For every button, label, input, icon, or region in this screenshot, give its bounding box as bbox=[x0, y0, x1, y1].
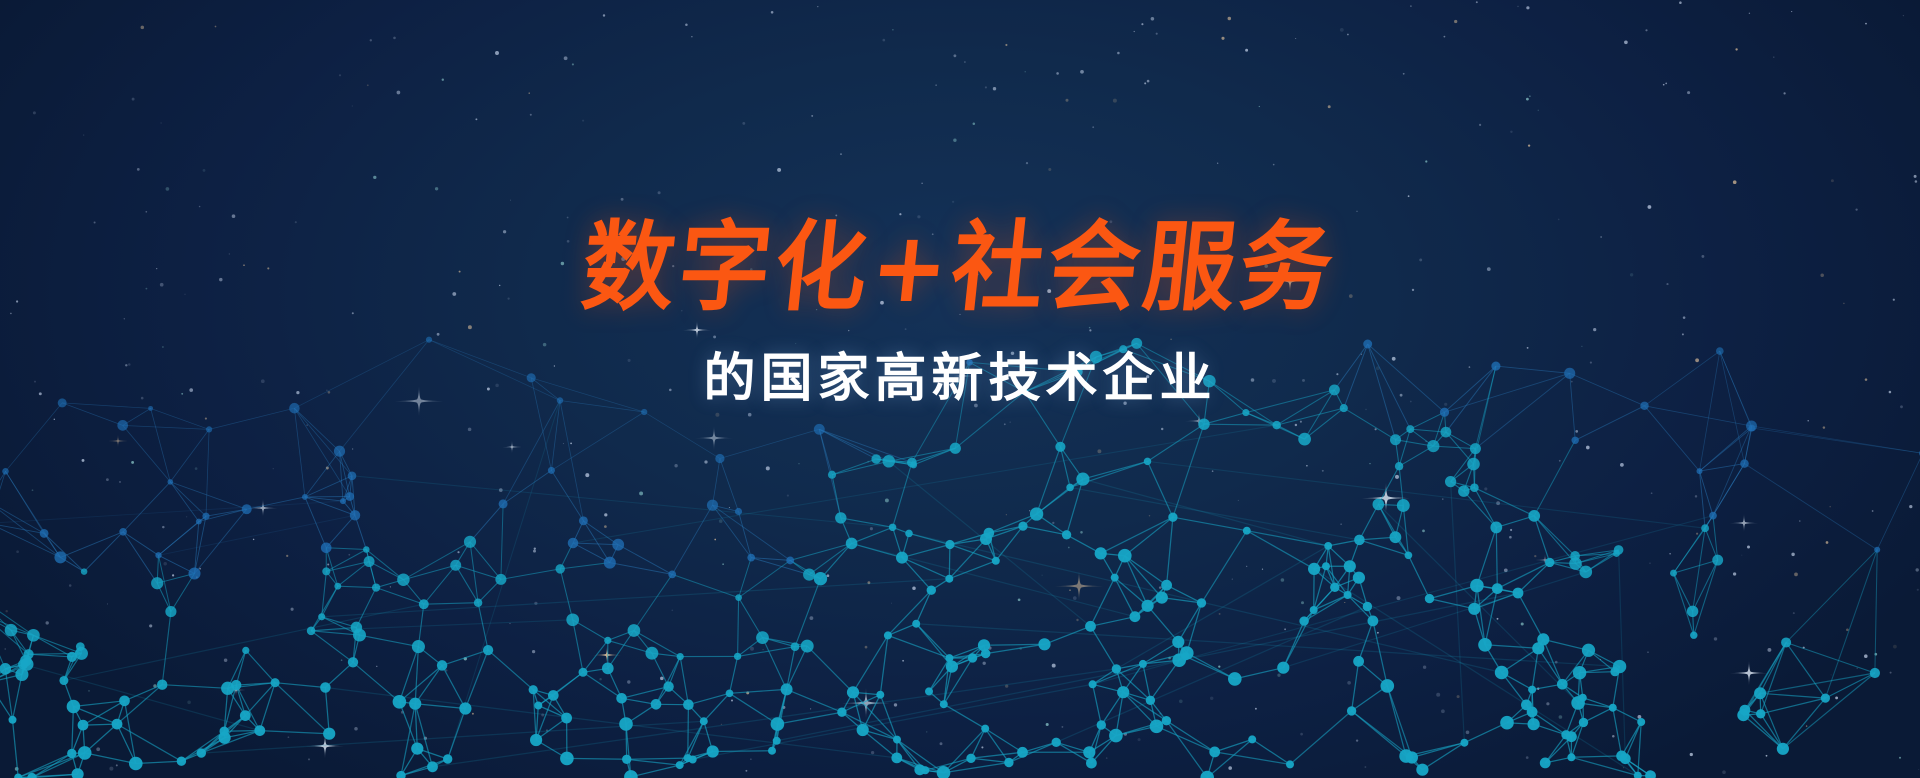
hero-banner: 数字化+社会服务 的国家高新技术企业 bbox=[0, 0, 1920, 778]
title-row: 数字化+社会服务 bbox=[0, 222, 1920, 314]
page-title: 数字化+社会服务 bbox=[578, 219, 1341, 317]
page-subtitle: 的国家高新技术企业 bbox=[703, 336, 1216, 411]
subtitle-row: 的国家高新技术企业 bbox=[0, 336, 1920, 411]
hero-content: 数字化+社会服务 的国家高新技术企业 bbox=[0, 0, 1920, 411]
